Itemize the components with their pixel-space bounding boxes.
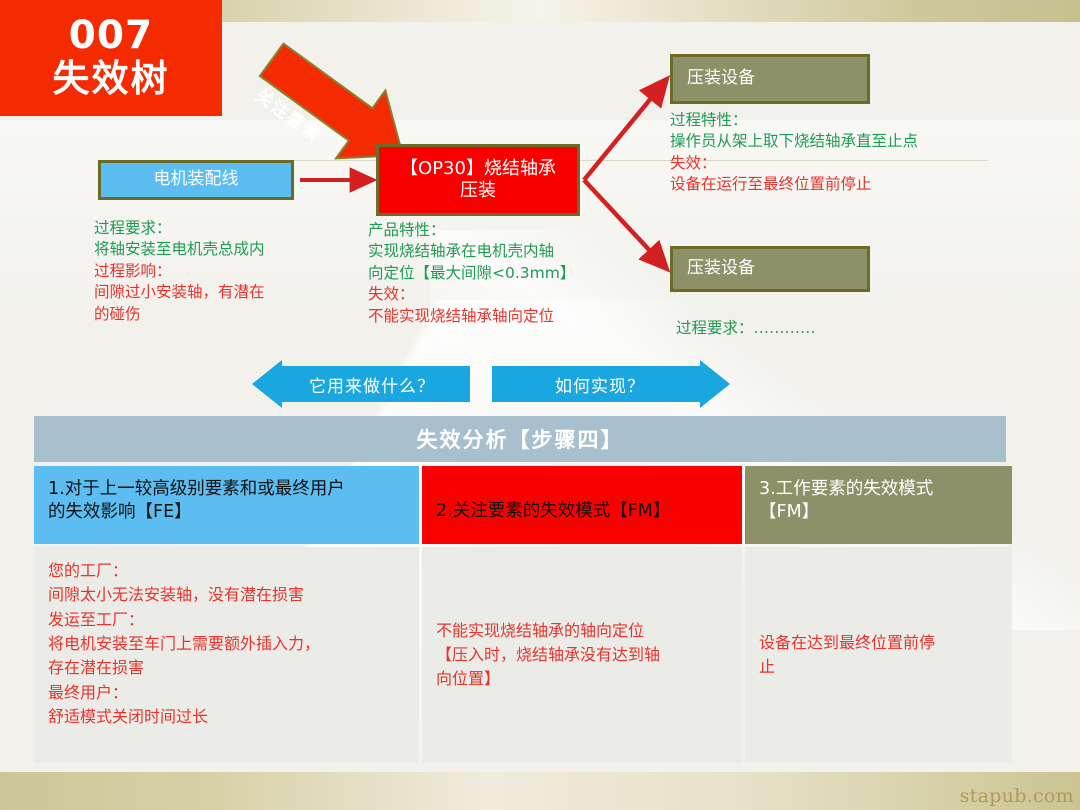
title-number: 007: [69, 16, 153, 55]
header-line: 1.对于上一较高级别要素和或最终用户: [48, 478, 405, 501]
annotation-line: 不能实现烧结轴承轴向定位: [368, 306, 575, 327]
table-cell-col2: 不能实现烧结轴承的轴向定位【压入时，烧结轴承没有达到轴向位置】: [422, 547, 742, 763]
cell-line: 舒适模式关闭时间过长: [48, 705, 405, 729]
annotation-line: 过程影响：: [94, 261, 265, 282]
cell-line: 止: [759, 655, 935, 679]
question-arrow-left-label: 它用来做什么？: [252, 360, 470, 408]
question-arrow-right[interactable]: 如何实现？: [492, 360, 730, 408]
process-box-op30-line1: 【OP30】烧结轴承: [400, 158, 556, 179]
process-box-equipment-top-label: 压装设备: [687, 68, 755, 89]
annotation-right-top: 过程特性：操作员从架上取下烧结轴承直至止点失效：设备在运行至最终位置前停止: [670, 110, 918, 196]
process-box-motor-line-label: 电机装配线: [154, 169, 239, 190]
table-cell-col2-inner: 不能实现烧结轴承的轴向定位【压入时，烧结轴承没有达到轴向位置】: [436, 619, 660, 692]
question-arrow-left[interactable]: 它用来做什么？: [252, 360, 470, 408]
process-box-equipment-top[interactable]: 压装设备: [670, 54, 870, 104]
cell-line: 您的工厂：: [48, 559, 405, 583]
table-cell-col3-inner: 设备在达到最终位置前停止: [759, 631, 935, 680]
annotation-line: 过程要求：…………: [676, 318, 816, 339]
cell-line: 发运至工厂：: [48, 608, 405, 632]
annotation-right-bottom: 过程要求：…………: [676, 318, 816, 339]
table-cell-col1: 您的工厂：间隙太小无法安装轴，没有潜在损害发运至工厂：将电机安装至车门上需要额外…: [34, 547, 419, 763]
failure-analysis-table: 失效分析【步骤四】 1.对于上一较高级别要素和或最终用户的失效影响【FE】 2.…: [34, 416, 1006, 764]
decorative-bottom-band: [0, 772, 1080, 810]
process-box-equipment-bottom[interactable]: 压装设备: [670, 246, 870, 292]
table-header-col2: 2.关注要素的失效模式【FM】: [422, 466, 742, 544]
annotation-line: 实现烧结轴承在电机壳内轴: [368, 241, 575, 262]
process-box-op30-label: 【OP30】烧结轴承 压装: [400, 158, 556, 203]
table-header-col3: 3.工作要素的失效模式【FM】: [745, 466, 1012, 544]
annotation-line: 失效：: [368, 284, 575, 305]
annotation-line: 操作员从架上取下烧结轴承直至止点: [670, 131, 918, 152]
annotation-line: 设备在运行至最终位置前停止: [670, 174, 918, 195]
cell-line: 最终用户：: [48, 681, 405, 705]
process-box-equipment-bottom-label: 压装设备: [687, 258, 755, 279]
cell-line: 将电机安装至车门上需要额外插入力，: [48, 632, 405, 656]
header-line: 【FM】: [759, 501, 998, 524]
cell-line: 向位置】: [436, 667, 660, 691]
cell-line: 【压入时，烧结轴承没有达到轴: [436, 643, 660, 667]
header-line: 的失效影响【FE】: [48, 501, 405, 524]
title-name: 失效树: [53, 59, 170, 100]
title-badge: 007 失效树: [0, 0, 222, 116]
annotation-line: 过程特性：: [670, 110, 918, 131]
process-box-motor-line[interactable]: 电机装配线: [98, 160, 294, 200]
annotation-middle: 产品特性：实现烧结轴承在电机壳内轴向定位【最大间隙<0.3mm】失效：不能实现烧…: [368, 220, 575, 327]
cell-line: 不能实现烧结轴承的轴向定位: [436, 619, 660, 643]
cell-line: 存在潜在损害: [48, 656, 405, 680]
header-line: 3.工作要素的失效模式: [759, 478, 998, 501]
annotation-line: 向定位【最大间隙<0.3mm】: [368, 263, 575, 284]
table-grid: 1.对于上一较高级别要素和或最终用户的失效影响【FE】 2.关注要素的失效模式【…: [34, 466, 1006, 763]
cell-line: 设备在达到最终位置前停: [759, 631, 935, 655]
annotation-line: 的碰伤: [94, 304, 265, 325]
table-header-col1: 1.对于上一较高级别要素和或最终用户的失效影响【FE】: [34, 466, 419, 544]
annotation-line: 失效：: [670, 153, 918, 174]
table-cell-col3: 设备在达到最终位置前停止: [745, 547, 1012, 763]
annotation-line: 产品特性：: [368, 220, 575, 241]
process-box-op30[interactable]: 【OP30】烧结轴承 压装: [376, 144, 580, 216]
watermark: stapub.com: [960, 785, 1074, 807]
header-line: 2.关注要素的失效模式【FM】: [436, 500, 670, 523]
annotation-line: 过程要求：: [94, 218, 265, 239]
process-box-op30-line2: 压装: [460, 180, 496, 201]
annotation-line: 将轴安装至电机壳总成内: [94, 239, 265, 260]
question-arrow-right-label: 如何实现？: [492, 360, 730, 408]
cell-line: 间隙太小无法安装轴，没有潜在损害: [48, 583, 405, 607]
slide-canvas: 007 失效树 关注要素 电机装配线 【OP30】烧结轴承 压装: [0, 0, 1080, 810]
table-title: 失效分析【步骤四】: [34, 416, 1006, 462]
annotation-line: 间隙过小安装轴，有潜在: [94, 282, 265, 303]
annotation-left: 过程要求：将轴安装至电机壳总成内过程影响：间隙过小安装轴，有潜在的碰伤: [94, 218, 265, 325]
